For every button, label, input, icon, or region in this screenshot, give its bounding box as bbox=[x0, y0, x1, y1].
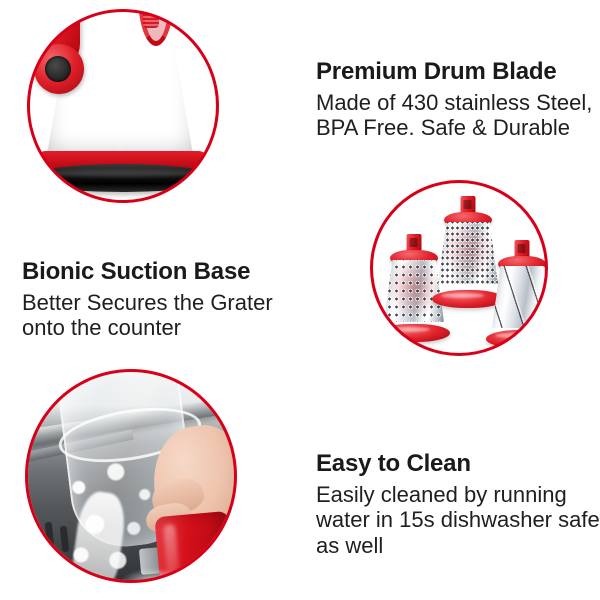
feature-description: Better Secures the Grater onto the count… bbox=[22, 290, 312, 341]
drum-blades-photo-ring bbox=[370, 180, 548, 356]
feature-description: Easily cleaned by running water in 15s d… bbox=[316, 482, 600, 559]
washing-photo-ring bbox=[25, 369, 237, 583]
feature-text-easy-to-clean: Easy to Clean Easily cleaned by running … bbox=[316, 450, 600, 558]
feature-description: Made of 430 stainless Steel, BPA Free. S… bbox=[316, 90, 596, 141]
feature-text-bionic-suction-base: Bionic Suction Base Better Secures the G… bbox=[22, 258, 312, 341]
infographic-canvas: Premium Drum Blade Made of 430 stainless… bbox=[0, 0, 600, 600]
feature-title: Bionic Suction Base bbox=[22, 258, 312, 286]
suction-base-photo-ring bbox=[27, 9, 219, 203]
feature-text-premium-drum-blade: Premium Drum Blade Made of 430 stainless… bbox=[316, 58, 596, 141]
feature-title: Premium Drum Blade bbox=[316, 58, 596, 86]
feature-title: Easy to Clean bbox=[316, 450, 600, 478]
